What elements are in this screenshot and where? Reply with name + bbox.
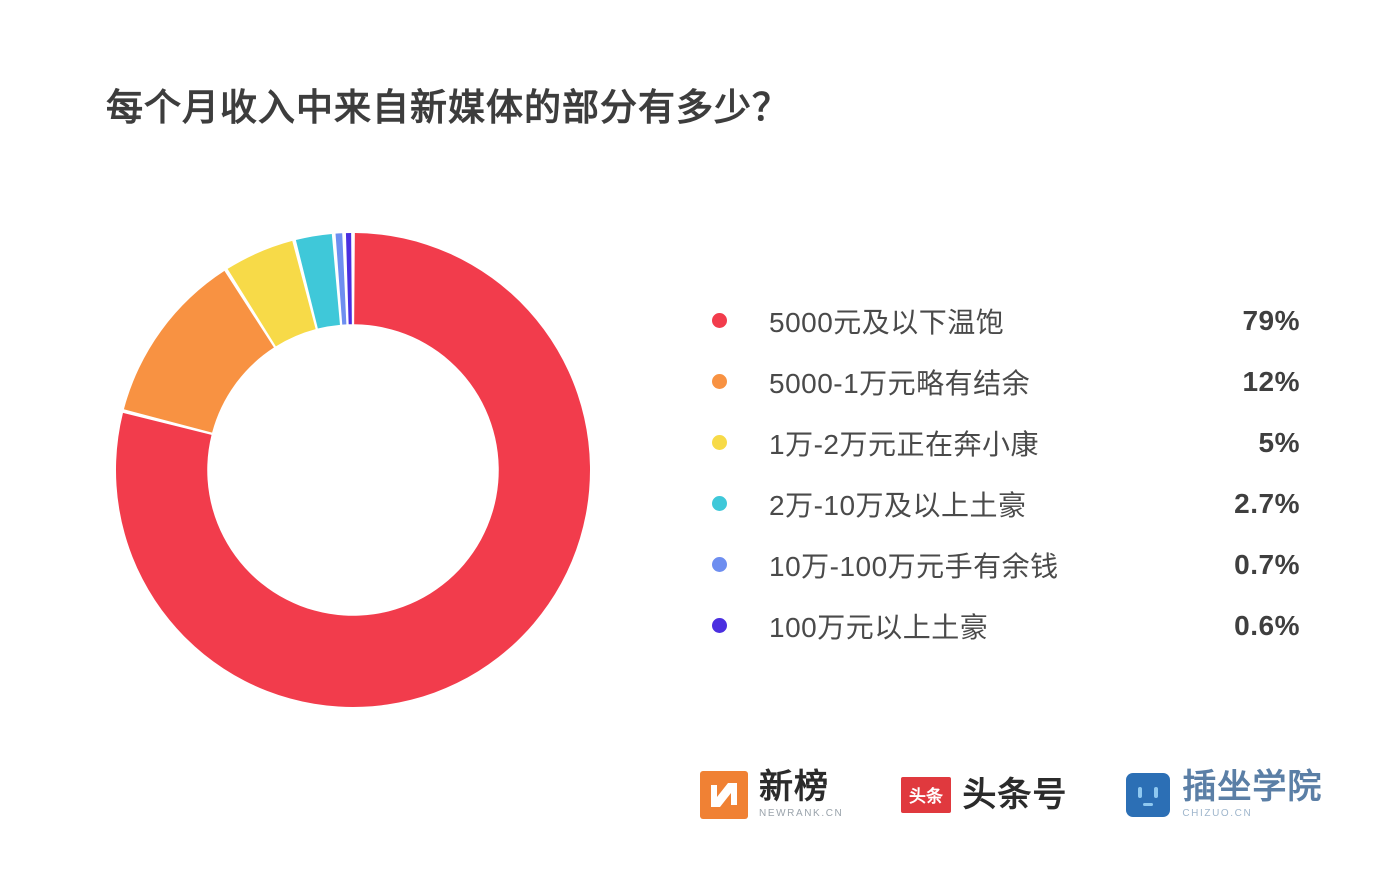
legend-swatch-icon-0	[712, 313, 727, 328]
donut-slice-5[interactable]: 100万元以上土豪 0.6%	[346, 233, 352, 324]
newrank-logo-text: 新榜 NEWRANK.CN	[759, 770, 843, 819]
donut-chart-svg: 5000元及以下温饱 79%5000-1万元略有结余 12%1万-2万元正在奔小…	[116, 233, 590, 707]
legend-item-3[interactable]: 2万-10万及以上土豪 2.7%	[712, 482, 1300, 525]
legend-item-4[interactable]: 10万-100万元手有余钱 0.7%	[712, 543, 1300, 586]
toutiaohao-logo-icon: 头条	[901, 777, 951, 813]
legend-label-4: 10万-100万元手有余钱	[769, 545, 1200, 585]
legend-swatch-icon-2	[712, 435, 727, 450]
legend-label-1: 5000-1万元略有结余	[769, 362, 1200, 402]
logo-toutiaohao[interactable]: 头条 头条号	[901, 777, 1067, 813]
chazuo-logo-icon	[1125, 772, 1171, 818]
legend-label-3: 2万-10万及以上土豪	[769, 484, 1200, 524]
legend-label-0: 5000元及以下温饱	[769, 301, 1200, 341]
legend-value-4: 0.7%	[1200, 549, 1300, 581]
legend-value-3: 2.7%	[1200, 488, 1300, 520]
legend-item-5[interactable]: 100万元以上土豪 0.6%	[712, 604, 1300, 647]
newrank-logo-subtitle: NEWRANK.CN	[759, 809, 843, 819]
chazuo-logo-subtitle: CHIZUO.CN	[1182, 809, 1322, 819]
donut-chart: 5000元及以下温饱 79%5000-1万元略有结余 12%1万-2万元正在奔小…	[116, 233, 590, 707]
legend-swatch-icon-1	[712, 374, 727, 389]
chazuo-logo-text: 插坐学院 CHIZUO.CN	[1182, 770, 1322, 819]
legend-swatch-icon-5	[712, 618, 727, 633]
footer-logo-bar: 新榜 NEWRANK.CN 头条 头条号 插坐学院 CHIZUO.CN	[700, 770, 1322, 819]
logo-chazuo[interactable]: 插坐学院 CHIZUO.CN	[1125, 770, 1322, 819]
legend-label-2: 1万-2万元正在奔小康	[769, 423, 1200, 463]
chazuo-logo-name: 插坐学院	[1182, 770, 1322, 804]
toutiaohao-logo-text: 头条号	[962, 778, 1067, 812]
legend-value-2: 5%	[1200, 427, 1300, 459]
newrank-logo-name: 新榜	[759, 770, 843, 804]
legend-item-2[interactable]: 1万-2万元正在奔小康 5%	[712, 421, 1300, 464]
legend-swatch-icon-3	[712, 496, 727, 511]
legend-swatch-icon-4	[712, 557, 727, 572]
legend-item-0[interactable]: 5000元及以下温饱 79%	[712, 299, 1300, 342]
legend-label-5: 100万元以上土豪	[769, 606, 1200, 646]
legend-item-1[interactable]: 5000-1万元略有结余 12%	[712, 360, 1300, 403]
logo-newrank[interactable]: 新榜 NEWRANK.CN	[700, 770, 843, 819]
chart-canvas: 每个月收入中来自新媒体的部分有多少？ 5000元及以下温饱 79%5000-1万…	[0, 0, 1399, 893]
legend-value-0: 79%	[1200, 305, 1300, 337]
legend-value-1: 12%	[1200, 366, 1300, 398]
toutiaohao-logo-name: 头条号	[962, 778, 1067, 812]
donut-slice-group: 5000元及以下温饱 79%5000-1万元略有结余 12%1万-2万元正在奔小…	[116, 233, 590, 707]
legend-value-5: 0.6%	[1200, 610, 1300, 642]
svg-text:头条: 头条	[909, 786, 944, 806]
newrank-logo-icon	[700, 771, 748, 819]
page-title: 每个月收入中来自新媒体的部分有多少？	[106, 86, 790, 130]
chart-legend: 5000元及以下温饱 79% 5000-1万元略有结余 12% 1万-2万元正在…	[712, 299, 1300, 647]
